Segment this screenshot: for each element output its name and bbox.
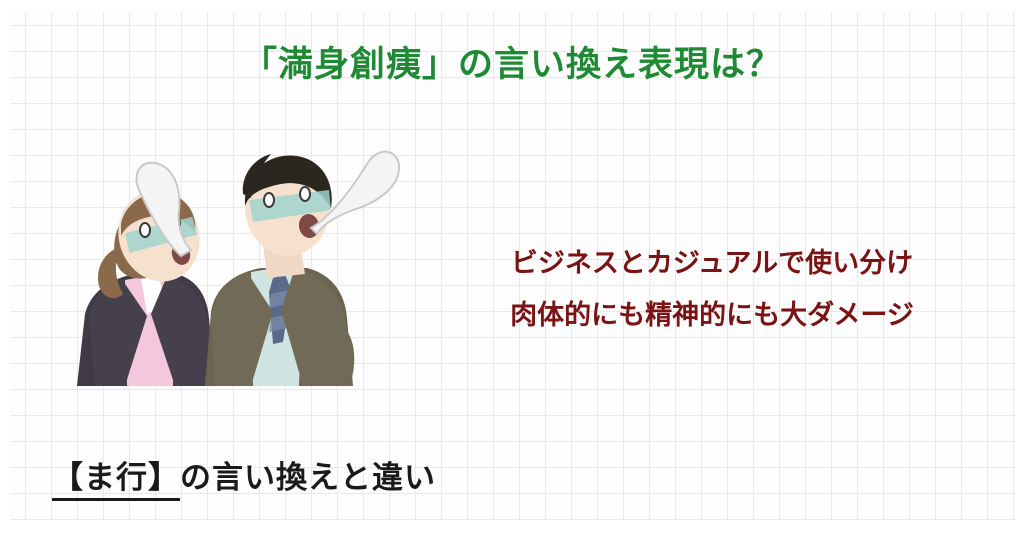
exhausted-business-couple-illustration xyxy=(55,128,415,388)
footer-bracket-label: 【ま行】 xyxy=(52,460,180,501)
bottom-margin-band xyxy=(0,520,1024,546)
description-text-block: ビジネスとカジュアルで使い分け 肉体的にも精神的にも大ダメージ xyxy=(432,238,992,342)
woman-figure xyxy=(77,180,216,386)
footer-rest-label: の言い換えと違い xyxy=(180,460,436,496)
top-margin-band xyxy=(0,0,1024,12)
description-line-1: ビジネスとカジュアルで使い分け xyxy=(432,238,992,290)
footer-caption: 【ま行】の言い換えと違い xyxy=(52,452,436,497)
slide-canvas: 「満身創痍」の言い換え表現は？ xyxy=(0,0,1024,546)
description-line-2: 肉体的にも精神的にも大ダメージ xyxy=(432,290,992,342)
page-title: 「満身創痍」の言い換え表現は？ xyxy=(0,36,1024,87)
man-figure xyxy=(205,154,354,386)
